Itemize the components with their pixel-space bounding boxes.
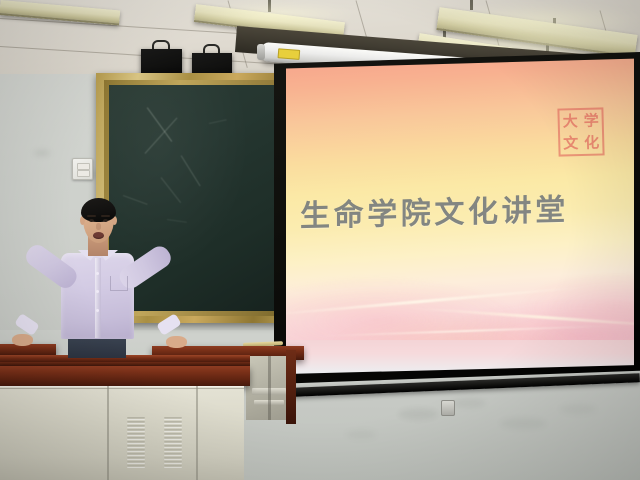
chalk-mark: [161, 177, 181, 203]
switch-rocker[interactable]: [77, 163, 90, 170]
chalk-mark: [167, 219, 187, 223]
wall-smudge: [500, 418, 546, 429]
roller-endcap: [257, 44, 265, 60]
person-right-hand: [166, 336, 187, 348]
person-eye-right: [103, 219, 108, 222]
cabinet-divider: [268, 356, 271, 420]
wall-smudge: [346, 430, 376, 439]
person-trousers: [68, 336, 126, 358]
person-shirt-placket: [95, 258, 101, 338]
wall-smudge: [452, 398, 486, 408]
seal-char: 大: [563, 114, 578, 129]
wall-smudge: [398, 408, 438, 420]
wall-smudge: [34, 150, 50, 156]
slide-title: 生命学院文化讲堂: [300, 185, 569, 236]
chalk-mark: [123, 195, 148, 205]
photo-scene: 大 学 文 化 生命学院文化讲堂: [0, 0, 640, 480]
chalk-mark: [145, 118, 178, 154]
chalk-mark: [180, 155, 200, 186]
seal-char: 学: [583, 113, 598, 128]
projection-screen-surface[interactable]: 大 学 文 化 生命学院文化讲堂: [286, 58, 634, 366]
podium-front-apron: [0, 366, 250, 386]
seal-char: 化: [584, 135, 599, 150]
wall-switch-plate[interactable]: [72, 158, 93, 180]
person-shirt-pocket: [110, 276, 128, 291]
person-shirt-button: [96, 290, 99, 293]
cabinet-door-seam: [196, 386, 198, 480]
cabinet-vent-group: [164, 417, 182, 469]
person-eyebrow-right: [101, 215, 110, 217]
podium-side-panel: [286, 350, 296, 424]
person-shirt-button: [96, 272, 99, 275]
slide-seal-stamp: 大 学 文 化: [557, 107, 604, 156]
podium-open-cabinet[interactable]: [246, 356, 290, 420]
person-nose: [96, 223, 101, 230]
person-shirt-button: [96, 309, 99, 312]
person-hair: [81, 198, 116, 222]
cabinet-top-seam: [0, 388, 244, 389]
podium-cabinet-body[interactable]: [0, 386, 244, 480]
person-eye-left: [89, 219, 94, 222]
chalk-mark: [209, 119, 227, 124]
light-glow: [190, 2, 360, 28]
roller-warning-label: [278, 48, 301, 60]
seal-char: 文: [563, 136, 578, 151]
person-mouth-speaking: [93, 232, 104, 239]
cabinet-door-seam: [107, 386, 109, 480]
screen-wall-hook[interactable]: [441, 400, 455, 416]
person-left-hand: [12, 334, 33, 346]
wall-smudge: [560, 404, 596, 414]
switch-rocker[interactable]: [77, 170, 90, 177]
person-eyebrow-left: [87, 215, 96, 217]
cabinet-vent-group: [127, 417, 145, 469]
